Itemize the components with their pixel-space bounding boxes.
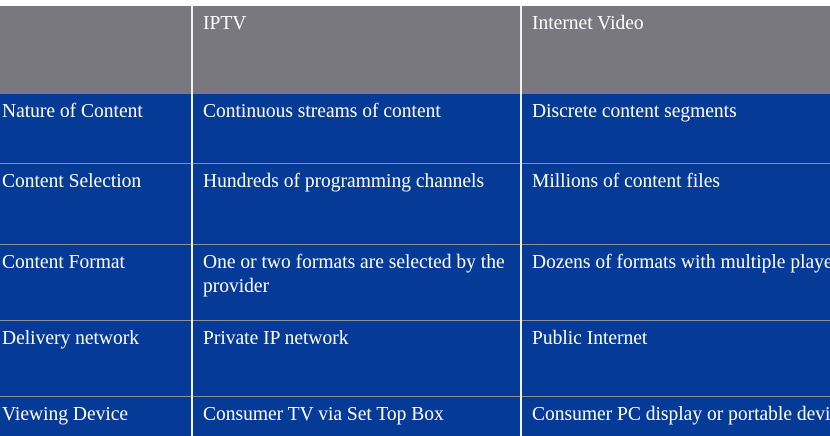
column-header-iptv: IPTV bbox=[192, 6, 521, 94]
row-internet-video-value: Millions of content files bbox=[532, 170, 830, 194]
table-header: IPTV Internet Video bbox=[0, 6, 830, 94]
row-attribute-cell: Content Selection bbox=[0, 164, 192, 245]
row-iptv-value: Continuous streams of content bbox=[203, 100, 512, 124]
row-attribute-cell: Nature of Content bbox=[0, 94, 192, 164]
column-header-internet-video: Internet Video bbox=[521, 6, 830, 94]
row-iptv-value: Hundreds of programming channels bbox=[203, 170, 512, 194]
row-iptv-cell: Hundreds of programming channels bbox=[192, 164, 521, 245]
column-header-iptv-label: IPTV bbox=[203, 12, 512, 36]
table-row: Delivery network Private IP network Publ… bbox=[0, 321, 830, 397]
row-iptv-value: Consumer TV via Set Top Box bbox=[203, 403, 512, 427]
row-internet-video-cell: Consumer PC display or portable device bbox=[521, 397, 830, 436]
row-attribute-label: Content Selection bbox=[2, 170, 183, 194]
row-iptv-cell: Private IP network bbox=[192, 321, 521, 397]
column-header-internet-video-label: Internet Video bbox=[532, 12, 830, 36]
row-internet-video-value: Discrete content segments bbox=[532, 100, 830, 124]
row-attribute-label: Nature of Content bbox=[2, 100, 183, 124]
comparison-table: IPTV Internet Video Nature of Content Co… bbox=[0, 6, 830, 436]
table-row: Content Selection Hundreds of programmin… bbox=[0, 164, 830, 245]
row-internet-video-cell: Public Internet bbox=[521, 321, 830, 397]
row-internet-video-cell: Millions of content files bbox=[521, 164, 830, 245]
table-row: Viewing Device Consumer TV via Set Top B… bbox=[0, 397, 830, 436]
row-attribute-label: Delivery network bbox=[2, 327, 183, 351]
table-body: Nature of Content Continuous streams of … bbox=[0, 94, 830, 436]
row-internet-video-cell: Dozens of formats with multiple players bbox=[521, 245, 830, 321]
row-iptv-cell: Consumer TV via Set Top Box bbox=[192, 397, 521, 436]
row-attribute-cell: Delivery network bbox=[0, 321, 192, 397]
row-internet-video-value: Dozens of formats with multiple players bbox=[532, 251, 830, 275]
table-row: Content Format One or two formats are se… bbox=[0, 245, 830, 321]
row-attribute-cell: Viewing Device bbox=[0, 397, 192, 436]
table-header-row: IPTV Internet Video bbox=[0, 6, 830, 94]
row-attribute-cell: Content Format bbox=[0, 245, 192, 321]
row-internet-video-value: Public Internet bbox=[532, 327, 830, 351]
table-viewport: IPTV Internet Video Nature of Content Co… bbox=[0, 0, 830, 436]
table-row: Nature of Content Continuous streams of … bbox=[0, 94, 830, 164]
row-iptv-value: Private IP network bbox=[203, 327, 512, 351]
row-internet-video-value: Consumer PC display or portable device bbox=[532, 403, 830, 427]
row-iptv-value: One or two formats are selected by the p… bbox=[203, 251, 512, 299]
row-iptv-cell: One or two formats are selected by the p… bbox=[192, 245, 521, 321]
row-internet-video-cell: Discrete content segments bbox=[521, 94, 830, 164]
row-attribute-label: Content Format bbox=[2, 251, 183, 275]
row-iptv-cell: Continuous streams of content bbox=[192, 94, 521, 164]
row-attribute-label: Viewing Device bbox=[2, 403, 183, 427]
column-header-attribute bbox=[0, 6, 192, 94]
